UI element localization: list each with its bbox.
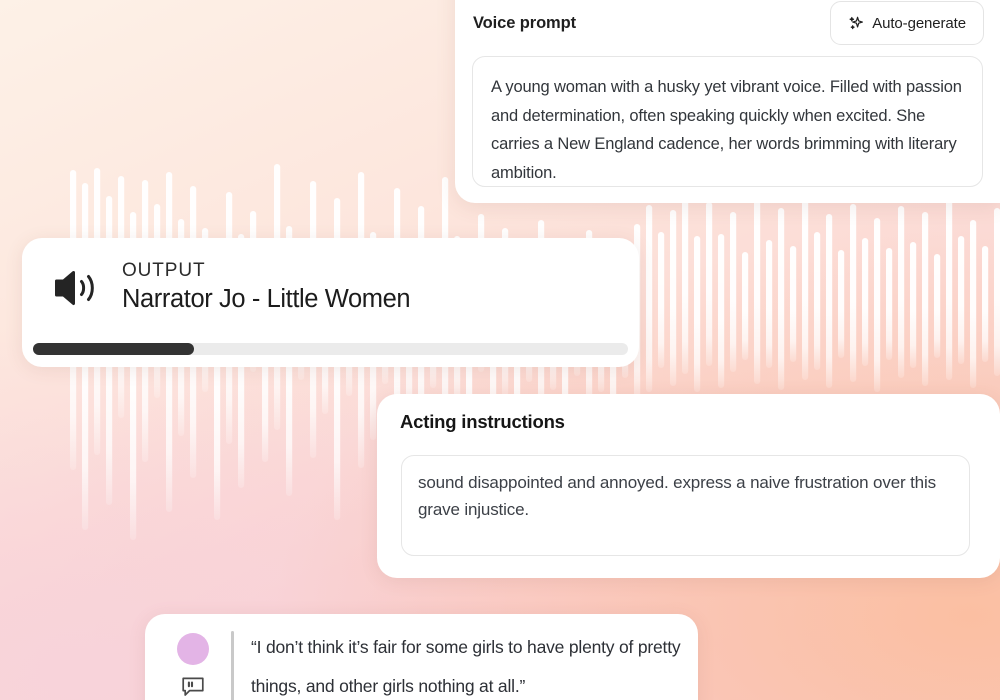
output-kicker: OUTPUT (122, 260, 410, 282)
speaker-icon[interactable] (52, 267, 97, 309)
auto-generate-label: Auto-generate (872, 15, 966, 32)
voice-prompt-header: Voice prompt Auto-generate (473, 0, 984, 46)
quote-aside (171, 633, 215, 700)
acting-instructions-input[interactable]: sound disappointed and annoyed. express … (401, 455, 970, 556)
output-progress-bar[interactable] (33, 343, 628, 355)
app-canvas: Voice prompt Auto-generate A young woman… (0, 0, 1000, 700)
auto-generate-button[interactable]: Auto-generate (830, 1, 984, 45)
output-player-row: OUTPUT Narrator Jo - Little Women (52, 260, 410, 317)
sparkle-icon (848, 15, 865, 32)
avatar (177, 633, 209, 665)
quote-card: “I don’t think it’s fair for some girls … (145, 614, 698, 700)
voice-prompt-input[interactable]: A young woman with a husky yet vibrant v… (472, 56, 983, 187)
voice-prompt-label: Voice prompt (473, 14, 576, 33)
quote-text: “I don’t think it’s fair for some girls … (251, 628, 681, 700)
acting-instructions-title: Acting instructions (400, 411, 565, 433)
voice-prompt-card: Voice prompt Auto-generate A young woman… (455, 0, 1000, 203)
output-player-card: OUTPUT Narrator Jo - Little Women (22, 238, 639, 367)
output-text-block: OUTPUT Narrator Jo - Little Women (122, 260, 410, 317)
quote-divider (231, 631, 234, 700)
output-title: Narrator Jo - Little Women (122, 283, 410, 316)
output-progress-fill (33, 343, 194, 355)
acting-instructions-card: Acting instructions sound disappointed a… (377, 394, 1000, 578)
quote-bubble-icon (180, 674, 206, 700)
